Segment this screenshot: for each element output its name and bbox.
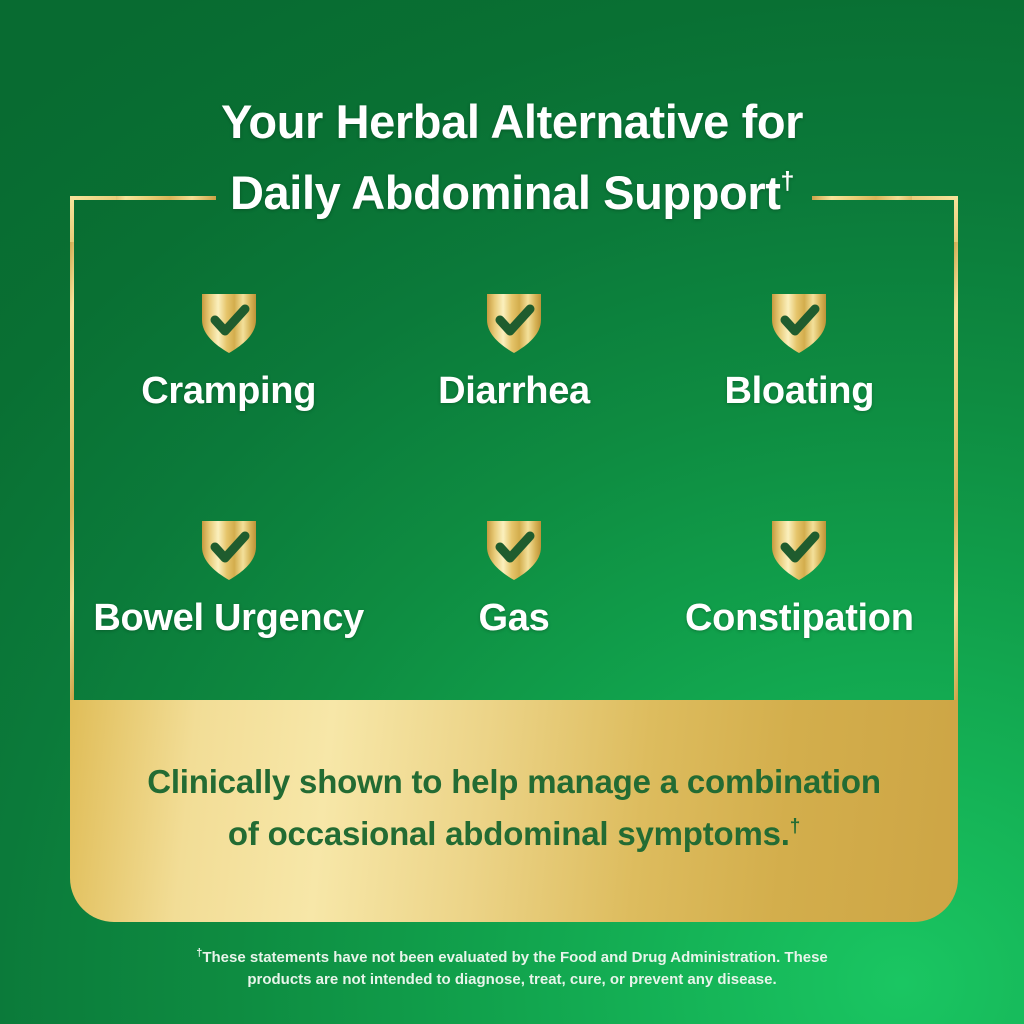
frame-edge-left [70,232,74,702]
disclaimer-line-1-text: These statements have not been evaluated… [202,949,827,966]
claim-banner: Clinically shown to help manage a combin… [70,700,958,922]
symptom-label: Bloating [725,370,875,413]
symptom-item-diarrhea: Diarrhea [371,282,656,413]
shield-check-icon [192,282,266,356]
headline-dagger-symbol: † [780,167,794,195]
symptom-label: Cramping [141,370,316,413]
claim-line-1: Clinically shown to help manage a combin… [147,756,881,808]
symptom-item-constipation: Constipation [657,509,942,640]
shield-check-icon [762,282,836,356]
claim-line-2-text: of occasional abdominal symptoms. [228,815,790,852]
frame-edge-right [954,232,958,702]
headline: Your Herbal Alternative for Daily Abdomi… [0,86,1024,229]
shield-check-icon [192,509,266,583]
symptom-item-bloating: Bloating [657,282,942,413]
fda-disclaimer: †These statements have not been evaluate… [162,946,862,991]
symptom-item-bowel-urgency: Bowel Urgency [86,509,371,640]
symptom-grid: Cramping Diarrhea Bloating Bowel Urgency [86,282,942,640]
headline-line-2-text: Daily Abdominal Support [230,166,780,219]
shield-check-icon [762,509,836,583]
symptom-label: Constipation [685,597,914,640]
shield-check-icon [477,509,551,583]
symptom-label: Bowel Urgency [93,597,364,640]
shield-check-icon [477,282,551,356]
symptom-item-gas: Gas [371,509,656,640]
claim-banner-text: Clinically shown to help manage a combin… [147,756,881,866]
symptom-label: Diarrhea [438,370,590,413]
claim-line-2: of occasional abdominal symptoms.† [147,808,881,860]
symptom-item-cramping: Cramping [86,282,371,413]
headline-line-1: Your Herbal Alternative for [0,86,1024,157]
disclaimer-line-1: †These statements have not been evaluate… [162,946,862,969]
symptom-label: Gas [479,597,550,640]
claim-dagger-symbol: † [790,816,800,837]
headline-line-2: Daily Abdominal Support† [0,157,1024,228]
disclaimer-line-2: products are not intended to diagnose, t… [162,969,862,991]
